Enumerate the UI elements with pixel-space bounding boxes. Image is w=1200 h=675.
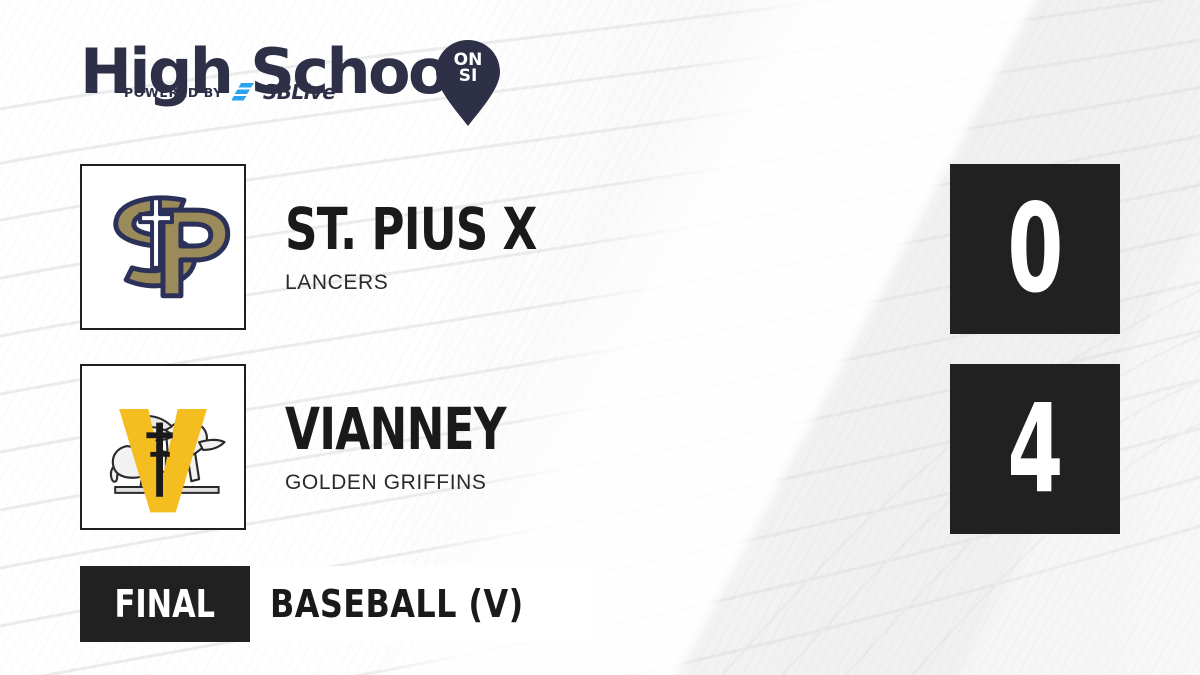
score-box: 0 — [950, 164, 1120, 334]
status-badge: FINAL — [80, 566, 250, 642]
pin-line-si: SI — [432, 68, 504, 84]
powered-by-label: POWERED BY — [124, 85, 223, 100]
score-value: 0 — [1007, 188, 1063, 310]
sblive-bolt-icon — [232, 83, 254, 102]
team-mascot: GOLDEN GRIFFINS — [285, 472, 568, 494]
team-name: ST. PIUS X — [285, 200, 537, 258]
scoreboard-graphic: High School ON SI POWERED BY SBLive — [0, 0, 1200, 675]
sblive-wordmark-dark: SBL — [263, 80, 304, 104]
score-box: 4 — [950, 364, 1120, 534]
powered-by-lockup: POWERED BY SBLive — [124, 80, 335, 104]
sport-label-panel: BASEBALL (V) — [250, 566, 594, 642]
sblive-wordmark-light: ive — [304, 80, 336, 104]
team-identity: VIANNEY GOLDEN GRIFFINS — [285, 364, 568, 530]
game-status-bar: FINAL BASEBALL (V) — [80, 566, 593, 642]
team-name: VIANNEY — [285, 400, 506, 458]
sport-label: BASEBALL (V) — [270, 585, 524, 623]
sblive-wordmark: SBLive — [263, 80, 335, 104]
status-badge-label: FINAL — [115, 585, 215, 623]
team-mascot: LANCERS — [285, 272, 608, 294]
vianney-griffin-v-logo — [80, 364, 246, 530]
score-value: 4 — [1007, 388, 1063, 510]
st-pius-x-sp-monogram-logo — [80, 164, 246, 330]
team-identity: ST. PIUS X LANCERS — [285, 164, 608, 330]
on-si-pin-label: ON SI — [432, 52, 504, 84]
